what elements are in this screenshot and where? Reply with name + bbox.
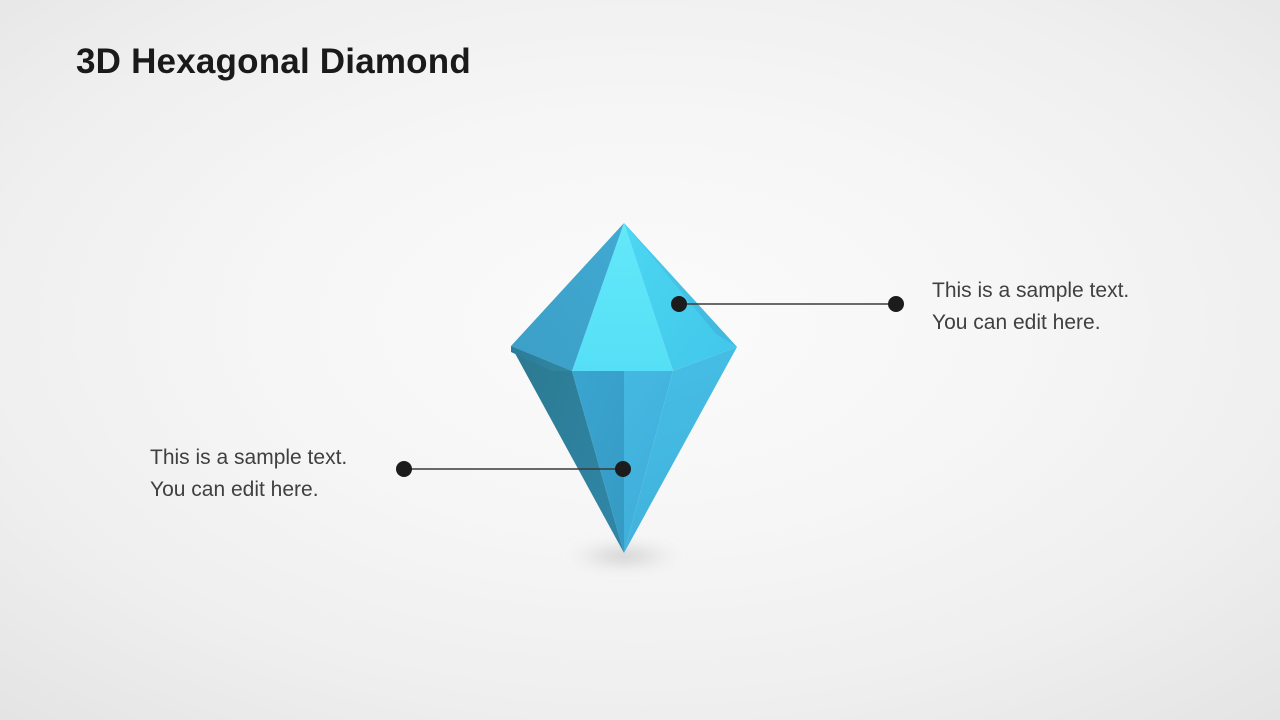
callout-left-line-1: This is a sample text.: [150, 442, 347, 474]
callout-left-anchor-dot[interactable]: [615, 461, 631, 477]
callout-right-anchor-dot[interactable]: [671, 296, 687, 312]
callout-left-text[interactable]: This is a sample text. You can edit here…: [150, 442, 347, 506]
callout-right-text[interactable]: This is a sample text. You can edit here…: [932, 275, 1129, 339]
callout-left-end-dot[interactable]: [396, 461, 412, 477]
slide-canvas: 3D Hexagonal Diamond: [0, 0, 1280, 720]
callout-left-line-2: You can edit here.: [150, 474, 347, 506]
callout-right-line-2: You can edit here.: [932, 307, 1129, 339]
diamond-figure: [0, 0, 1280, 720]
callout-right-connector[interactable]: [671, 296, 904, 312]
callout-right-end-dot[interactable]: [888, 296, 904, 312]
callout-right-line-1: This is a sample text.: [932, 275, 1129, 307]
